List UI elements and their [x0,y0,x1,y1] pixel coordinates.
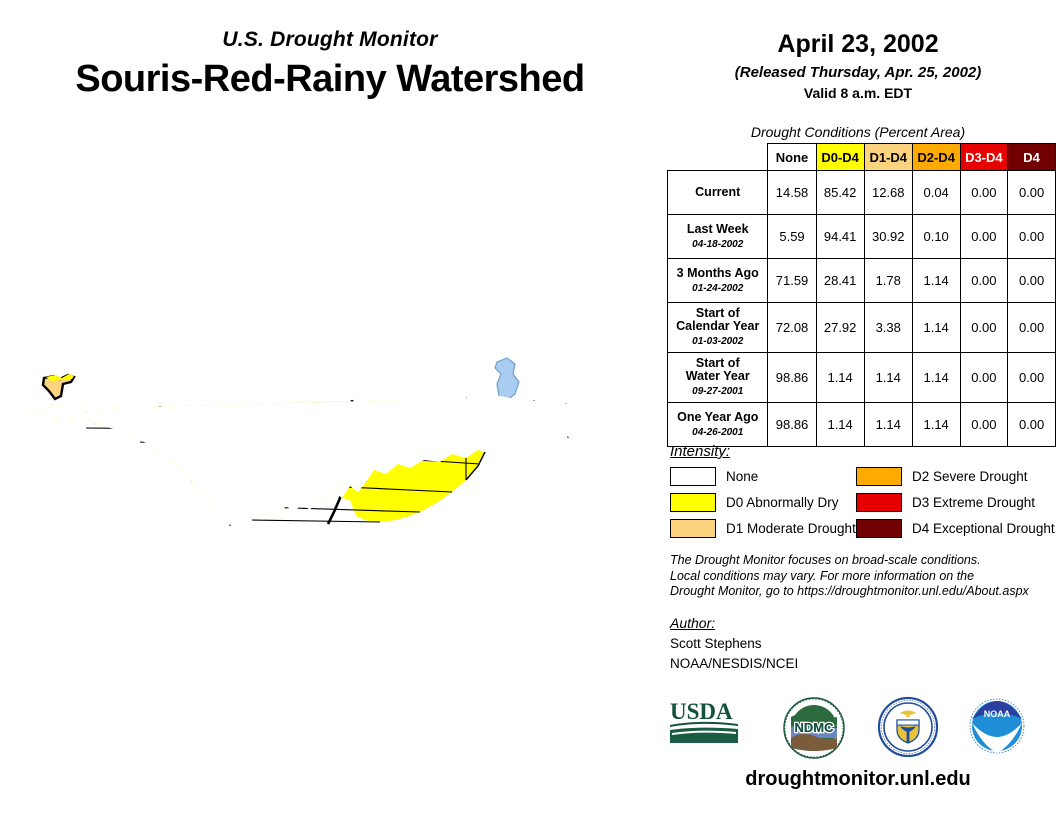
program-title: U.S. Drought Monitor [0,28,660,52]
row-label: Start ofCalendar Year01-03-2002 [668,303,768,353]
column-header-d4: D4 [1008,144,1056,171]
table-cell-value: 72.08 [768,303,816,353]
table-cell-value: 0.00 [960,171,1008,215]
svg-text:USDA: USDA [670,699,733,724]
legend-item-none: None [670,467,856,486]
release-date: (Released Thursday, Apr. 25, 2002) [660,64,1056,81]
table-cell-value: 1.14 [912,303,960,353]
legend-item-d4: D4 Exceptional Drought [856,519,1056,538]
valid-time: Valid 8 a.m. EDT [660,85,1056,101]
legend-swatch-d0 [670,493,716,512]
table-caption: Drought Conditions (Percent Area) [660,124,1056,140]
table-cell-value: 98.86 [768,403,816,447]
author-label: Author: [670,615,1050,631]
table-cell-value: 1.14 [912,403,960,447]
table-cell-value: 0.00 [1008,171,1056,215]
usda-logo: USDA [668,697,740,747]
row-label: Start ofWater Year09-27-2001 [668,353,768,403]
table-cell-value: 0.00 [960,303,1008,353]
row-label-date: 01-24-2002 [670,282,765,295]
disclaimer-line-1: The Drought Monitor focuses on broad-sca… [670,553,1050,569]
table-row: 3 Months Ago01-24-200271.5928.411.781.14… [668,259,1056,303]
drought-conditions-table: None D0-D4 D1-D4 D2-D4 D3-D4 D4 Current1… [667,143,1056,447]
column-header-none: None [768,144,816,171]
row-label: 3 Months Ago01-24-2002 [668,259,768,303]
issue-date: April 23, 2002 [660,30,1056,59]
disclaimer-line-2: Local conditions may vary. For more info… [670,569,1050,585]
souris-red-rainy-watershed-drought-map[interactable] [0,340,660,580]
legend-label: D0 Abnormally Dry [726,495,839,510]
table-cell-value: 1.14 [912,259,960,303]
table-cell-value: 0.00 [1008,259,1056,303]
map-inset-piece [43,374,74,399]
row-label: One Year Ago04-26-2001 [668,403,768,447]
table-row: Start ofWater Year09-27-200198.861.141.1… [668,353,1056,403]
author-name: Scott Stephens [670,636,1050,651]
legend-label: D4 Exceptional Drought [912,521,1055,536]
column-header-d3d4: D3-D4 [960,144,1008,171]
disclaimer-text: The Drought Monitor focuses on broad-sca… [670,553,1050,600]
map-watershed-border [15,396,652,526]
table-cell-value: 1.14 [816,353,864,403]
legend-swatch-none [670,467,716,486]
column-header-d2d4: D2-D4 [912,144,960,171]
column-header-d0d4: D0-D4 [816,144,864,171]
table-cell-value: 0.00 [1008,303,1056,353]
table-cell-value: 1.14 [864,403,912,447]
page-title: Souris-Red-Rainy Watershed [0,58,660,101]
row-label: Current [668,171,768,215]
title-block: U.S. Drought Monitor Souris-Red-Rainy Wa… [0,28,660,101]
table-row: Start ofCalendar Year01-03-200272.0827.9… [668,303,1056,353]
table-cell-value: 94.41 [816,215,864,259]
table-cell-value: 12.68 [864,171,912,215]
table-cell-value: 28.41 [816,259,864,303]
row-label-date: 04-18-2002 [670,238,765,251]
svg-text:NOAA: NOAA [984,709,1011,719]
author-affiliation: NOAA/NESDIS/NCEI [670,656,1050,671]
table-cell-value: 0.04 [912,171,960,215]
legend-item-d1: D1 Moderate Drought [670,519,856,538]
us-department-of-commerce-seal [878,697,938,757]
table-cell-value: 98.86 [768,353,816,403]
site-url: droughtmonitor.unl.edu [660,768,1056,791]
table-cell-value: 0.10 [912,215,960,259]
table-cell-value: 0.00 [960,259,1008,303]
table-cell-value: 14.58 [768,171,816,215]
table-cell-value: 30.92 [864,215,912,259]
legend-swatch-d1 [670,519,716,538]
svg-text:NDMC: NDMC [795,720,835,735]
row-label: Last Week04-18-2002 [668,215,768,259]
table-cell-value: 0.00 [1008,215,1056,259]
author-block: Author: Scott Stephens NOAA/NESDIS/NCEI [670,615,1050,671]
table-cell-value: 0.00 [960,353,1008,403]
map-container [0,340,660,580]
logo-row: USDA NDMC NDMC NOAA [663,697,1053,759]
legend-swatch-d3 [856,493,902,512]
legend-label: None [726,469,758,484]
legend-label: D3 Extreme Drought [912,495,1035,510]
row-label-date: 04-26-2001 [670,426,765,439]
intensity-legend-title: Intensity: [670,443,1056,460]
table-cell-value: 85.42 [816,171,864,215]
table-row: Last Week04-18-20025.5994.4130.920.100.0… [668,215,1056,259]
column-header-d1d4: D1-D4 [864,144,912,171]
table-cell-value: 1.14 [912,353,960,403]
table-cell-value: 1.78 [864,259,912,303]
table-cell-value: 27.92 [816,303,864,353]
legend-swatch-d4 [856,519,902,538]
row-label-date: 01-03-2002 [670,335,765,348]
ndmc-logo: NDMC NDMC [783,697,845,759]
table-cell-value: 3.38 [864,303,912,353]
date-block: April 23, 2002 (Released Thursday, Apr. … [660,30,1056,101]
table-cell-value: 0.00 [1008,403,1056,447]
legend-item-d2: D2 Severe Drought [856,467,1056,486]
table-row: Current14.5885.4212.680.040.000.00 [668,171,1056,215]
table-cell-value: 0.00 [960,215,1008,259]
table-cell-value: 5.59 [768,215,816,259]
table-cell-value: 71.59 [768,259,816,303]
table-cell-value: 0.00 [1008,353,1056,403]
legend-label: D2 Severe Drought [912,469,1028,484]
legend-item-d3: D3 Extreme Drought [856,493,1056,512]
table-cell-value: 0.00 [960,403,1008,447]
row-label-date: 09-27-2001 [670,385,765,398]
legend-item-d0: D0 Abnormally Dry [670,493,856,512]
legend-swatch-d2 [856,467,902,486]
table-row: One Year Ago04-26-200198.861.141.141.140… [668,403,1056,447]
table-cell-value: 1.14 [816,403,864,447]
noaa-logo: NOAA [968,697,1026,755]
disclaimer-line-3: Drought Monitor, go to https://droughtmo… [670,584,1050,600]
legend-label: D1 Moderate Drought [726,521,856,536]
table-cell-value: 1.14 [864,353,912,403]
table-corner-cell [668,144,768,171]
intensity-legend: Intensity: NoneD2 Severe DroughtD0 Abnor… [670,443,1056,538]
table-header-row: None D0-D4 D1-D4 D2-D4 D3-D4 D4 [668,144,1056,171]
